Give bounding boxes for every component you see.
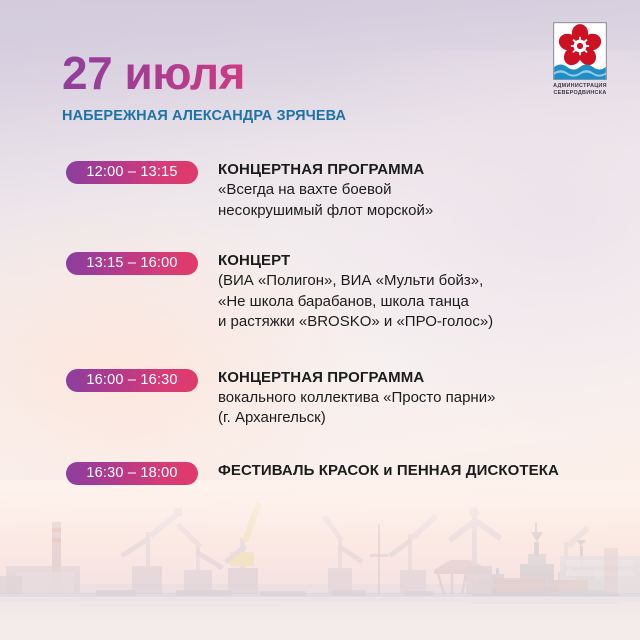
status-badge: 13:15 – 16:00 [66, 252, 198, 275]
event-line: (ВИА «Полигон», ВИА «Мульти бойз», [218, 271, 493, 292]
panorama-silhouette-icon [0, 480, 640, 640]
event-description: (ВИА «Полигон», ВИА «Мульти бойз», «Не ш… [218, 271, 493, 333]
event-heading-part-b: и [383, 462, 392, 479]
event-line: и растяжки «BROSKO» и «ПРО-голос») [218, 312, 493, 333]
event-heading-part-c: ПЕННАЯ ДИСКОТЕКА [397, 462, 559, 479]
event-detail: КОНЦЕРТНАЯ ПРОГРАММА вокального коллекти… [218, 368, 495, 429]
schedule-list: 12:00 – 13:15 КОНЦЕРТНАЯ ПРОГРАММА «Всег… [66, 160, 620, 485]
event-detail: ФЕСТИВАЛЬ КРАСОК и ПЕННАЯ ДИСКОТЕКА [218, 461, 559, 480]
event-line: вокального коллектива «Просто парни» [218, 388, 495, 409]
event-heading: КОНЦЕРТ [218, 251, 493, 270]
list-item: 13:15 – 16:00 КОНЦЕРТ (ВИА «Полигон», ВИ… [66, 251, 620, 333]
logo-caption-line2: СЕВЕРОДВИНСКА [542, 90, 618, 97]
event-heading: ФЕСТИВАЛЬ КРАСОК и ПЕННАЯ ДИСКОТЕКА [218, 461, 559, 480]
logo-caption-line1: АДМИНИСТРАЦИЯ [542, 83, 618, 90]
poster-header: 27 июля НАБЕРЕЖНАЯ АЛЕКСАНДРА ЗРЯЧЕВА [62, 48, 346, 125]
event-heading: КОНЦЕРТНАЯ ПРОГРАММА [218, 160, 433, 179]
event-poster: АДМИНИСТРАЦИЯ СЕВЕРОДВИНСКА 27 июля НАБЕ… [0, 0, 640, 640]
event-heading-part-a: ФЕСТИВАЛЬ КРАСОК [218, 462, 379, 479]
status-badge: 12:00 – 13:15 [66, 161, 198, 184]
list-item: 16:00 – 16:30 КОНЦЕРТНАЯ ПРОГРАММА вокал… [66, 368, 620, 429]
page-title: 27 июля [62, 48, 346, 98]
waterfront-panorama [0, 480, 640, 640]
list-item: 12:00 – 13:15 КОНЦЕРТНАЯ ПРОГРАММА «Всег… [66, 160, 620, 221]
event-line: «Всегда на вахте боевой [218, 180, 433, 201]
event-line: «Не школа барабанов, школа танца [218, 292, 493, 313]
venue-subtitle: НАБЕРЕЖНАЯ АЛЕКСАНДРА ЗРЯЧЕВА [62, 107, 346, 125]
logo: АДМИНИСТРАЦИЯ СЕВЕРОДВИНСКА [542, 22, 618, 97]
event-detail: КОНЦЕРТНАЯ ПРОГРАММА «Всегда на вахте бо… [218, 160, 433, 221]
event-description: вокального коллектива «Просто парни» (г.… [218, 388, 495, 429]
severodvinsk-emblem-icon [553, 22, 607, 80]
list-item: 16:30 – 18:00 ФЕСТИВАЛЬ КРАСОК и ПЕННАЯ … [66, 461, 620, 485]
event-line: несокрушимый флот морской» [218, 201, 433, 222]
event-heading: КОНЦЕРТНАЯ ПРОГРАММА [218, 368, 495, 387]
event-detail: КОНЦЕРТ (ВИА «Полигон», ВИА «Мульти бойз… [218, 251, 493, 333]
status-badge: 16:00 – 16:30 [66, 369, 198, 392]
event-description: «Всегда на вахте боевой несокрушимый фло… [218, 180, 433, 221]
event-line: (г. Архангельск) [218, 408, 495, 429]
status-badge: 16:30 – 18:00 [66, 462, 198, 485]
logo-caption: АДМИНИСТРАЦИЯ СЕВЕРОДВИНСКА [542, 83, 618, 97]
